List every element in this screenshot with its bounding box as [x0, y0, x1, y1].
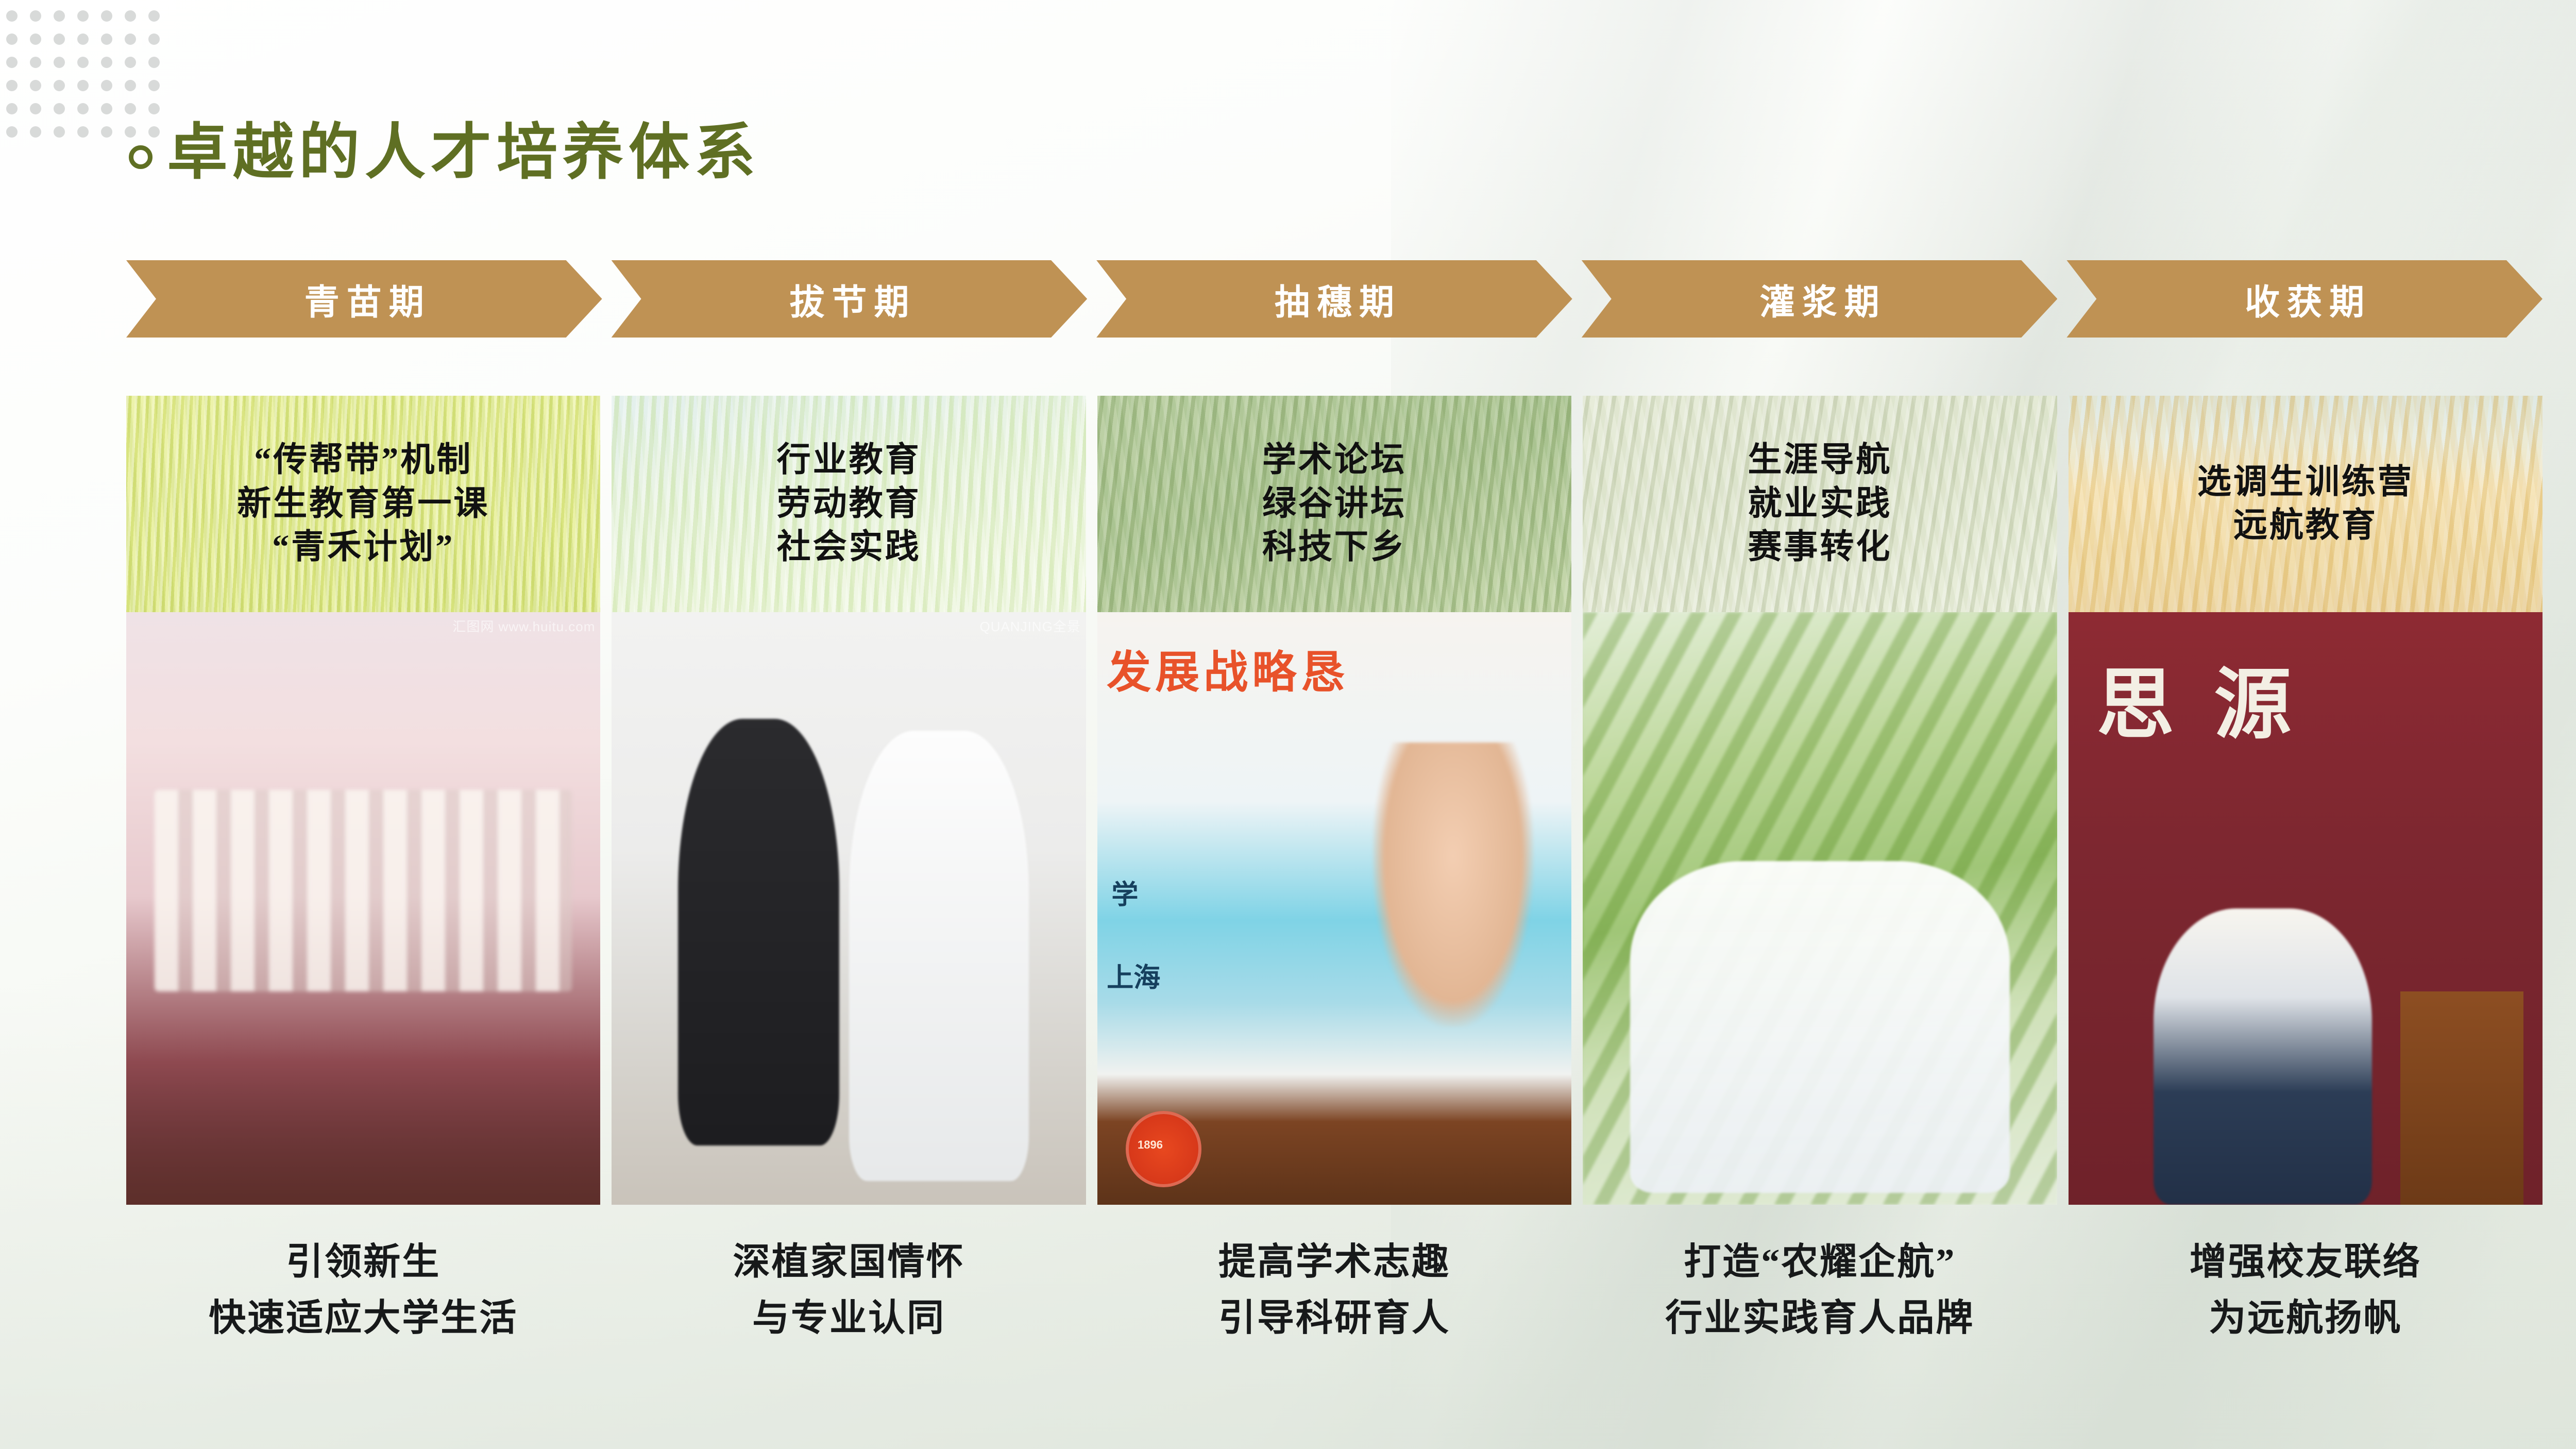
greenhouse-researchers-white-coats-image — [1583, 612, 2057, 1205]
grid-dot — [101, 80, 112, 91]
stage-column-4: 生涯导航就业实践赛事转化 — [1583, 396, 2057, 1205]
card-line: 赛事转化 — [1748, 526, 1892, 569]
card-line: 生涯导航 — [1748, 439, 1892, 482]
grid-dot — [101, 103, 112, 114]
card-line: 劳动教育 — [777, 482, 921, 526]
slide-canvas: 卓越的人才培养体系 青苗期拔节期抽穗期灌浆期收获期 “传帮带”机制新生教育第一课… — [0, 0, 2576, 1449]
stage-chevron-band: 青苗期拔节期抽穗期灌浆期收获期 — [126, 260, 2543, 338]
caption-line: 打造“农耀企航” — [1583, 1234, 2057, 1290]
grid-dot — [101, 126, 112, 138]
grid-dot — [30, 33, 41, 45]
stage-columns: “传帮带”机制新生教育第一课“青禾计划”汇图网 www.huitu.com行业教… — [126, 396, 2543, 1205]
card-line: 社会实践 — [777, 526, 921, 569]
stage-chevron-label: 青苗期 — [297, 274, 431, 325]
students-labor-planting-shovels-image — [612, 612, 1086, 1205]
card-line: 绿谷讲坛 — [1262, 482, 1406, 526]
caption-line: 快速适应大学生活 — [126, 1290, 600, 1346]
card-line: 新生教育第一课 — [237, 482, 489, 526]
caption-line: 增强校友联络 — [2069, 1234, 2543, 1290]
caption-line: 行业实践育人品牌 — [1583, 1290, 2057, 1346]
grid-dot — [30, 10, 41, 22]
grid-dot — [30, 126, 41, 138]
grid-dot — [30, 57, 41, 68]
grid-dot — [77, 103, 89, 114]
stage-chevron-label: 抽穗期 — [1267, 274, 1401, 325]
stage-caption-2: 深植家国情怀与专业认同 — [612, 1234, 1086, 1409]
card-line-group: 生涯导航就业实践赛事转化 — [1748, 439, 1892, 569]
university-seal-year: 1896 — [1138, 1138, 1163, 1152]
grid-dot — [6, 57, 18, 68]
caption-line: 深植家国情怀 — [612, 1234, 1086, 1290]
card-line-group: 行业教育劳动教育社会实践 — [777, 439, 921, 569]
card-line-group: 选调生训练营远航教育 — [2197, 461, 2414, 548]
photo-wall-calligraphy: 思 源 — [2097, 642, 2302, 754]
caption-line: 与专业认同 — [612, 1290, 1086, 1346]
stage-column-3: 学术论坛绿谷讲坛科技下乡发展战略恳学上海1896 — [1097, 396, 1571, 1205]
stage-caption-3: 提高学术志趣引导科研育人 — [1097, 1234, 1571, 1409]
grid-dot — [148, 10, 160, 22]
stage-chevron-3[interactable]: 抽穗期 — [1096, 260, 1572, 338]
grid-dot — [148, 103, 160, 114]
stage-photo-3[interactable]: 发展战略恳学上海1896 — [1097, 612, 1571, 1205]
stage-chevron-label: 灌浆期 — [1753, 274, 1887, 325]
caption-line: 为远航扬帆 — [2069, 1290, 2543, 1346]
stage-chevron-label: 收获期 — [2238, 274, 2371, 325]
caption-line: 提高学术志趣 — [1097, 1234, 1571, 1290]
auditorium-students-standing-image — [126, 612, 600, 1205]
card-line: “青禾计划” — [237, 526, 489, 569]
stage-captions: 引领新生快速适应大学生活深植家国情怀与专业认同提高学术志趣引导科研育人打造“农耀… — [126, 1234, 2543, 1409]
stage-column-5: 选调生训练营远航教育思 源 — [2069, 396, 2543, 1205]
grid-dot — [54, 80, 65, 91]
grid-dot — [148, 57, 160, 68]
stage-photo-5[interactable]: 思 源 — [2069, 612, 2543, 1205]
grid-dot — [6, 80, 18, 91]
stage-card-2[interactable]: 行业教育劳动教育社会实践 — [612, 396, 1086, 612]
stage-caption-5: 增强校友联络为远航扬帆 — [2069, 1234, 2543, 1409]
photo-side-text-lower: 上海 — [1107, 956, 1160, 995]
stage-card-4[interactable]: 生涯导航就业实践赛事转化 — [1583, 396, 2057, 612]
stage-card-3[interactable]: 学术论坛绿谷讲坛科技下乡 — [1097, 396, 1571, 612]
grid-dot — [54, 103, 65, 114]
stage-chevron-label: 拔节期 — [782, 274, 916, 325]
caption-line: 引领新生 — [126, 1234, 600, 1290]
grid-dot — [125, 103, 136, 114]
grid-dot — [101, 33, 112, 45]
grid-dot — [77, 10, 89, 22]
card-line: 远航教育 — [2197, 504, 2414, 547]
grid-dot — [54, 57, 65, 68]
card-line: “传帮带”机制 — [237, 439, 489, 482]
card-line: 学术论坛 — [1262, 439, 1406, 482]
grid-dot — [54, 126, 65, 138]
stage-chevron-1[interactable]: 青苗期 — [126, 260, 602, 338]
grid-dot — [54, 10, 65, 22]
grid-dot — [148, 80, 160, 91]
stage-chevron-4[interactable]: 灌浆期 — [1582, 260, 2058, 338]
photo-side-text-upper: 学 — [1111, 873, 1138, 912]
card-line-group: 学术论坛绿谷讲坛科技下乡 — [1262, 439, 1406, 569]
stage-chevron-2[interactable]: 拔节期 — [612, 260, 1088, 338]
stage-photo-4[interactable] — [1583, 612, 2057, 1205]
photo-watermark: 汇图网 www.huitu.com — [452, 616, 595, 635]
grid-dot — [77, 33, 89, 45]
grid-dot — [77, 80, 89, 91]
stage-column-2: 行业教育劳动教育社会实践QUANJING全景 — [612, 396, 1086, 1205]
grid-dot — [125, 33, 136, 45]
stage-card-1[interactable]: “传帮带”机制新生教育第一课“青禾计划” — [126, 396, 600, 612]
stage-photo-2[interactable]: QUANJING全景 — [612, 612, 1086, 1205]
ring-bullet-icon — [129, 145, 152, 169]
grid-dot — [30, 103, 41, 114]
stage-chevron-5[interactable]: 收获期 — [2066, 260, 2543, 338]
grid-dot — [6, 10, 18, 22]
page-title: 卓越的人才培养体系 — [167, 123, 760, 183]
caption-line: 引导科研育人 — [1097, 1290, 1571, 1346]
grid-dot — [125, 10, 136, 22]
stage-card-5[interactable]: 选调生训练营远航教育 — [2069, 396, 2543, 612]
grid-dot — [101, 10, 112, 22]
stage-column-1: “传帮带”机制新生教育第一课“青禾计划”汇图网 www.huitu.com — [126, 396, 600, 1205]
card-line-group: “传帮带”机制新生教育第一课“青禾计划” — [237, 439, 489, 569]
photo-watermark: QUANJING全景 — [979, 616, 1080, 635]
forum-speaker-at-podium-image — [1097, 612, 1571, 1205]
grid-dot — [6, 33, 18, 45]
stage-photo-1[interactable]: 汇图网 www.huitu.com — [126, 612, 600, 1205]
page-title-row: 卓越的人才培养体系 — [129, 123, 760, 183]
card-line: 选调生训练营 — [2197, 461, 2414, 504]
grid-dot — [6, 126, 18, 138]
grid-dot — [30, 80, 41, 91]
grid-dot — [54, 33, 65, 45]
card-line: 科技下乡 — [1262, 526, 1406, 569]
card-line: 就业实践 — [1748, 482, 1892, 526]
photo-banner-text: 发展战略恳 — [1107, 636, 1349, 700]
grid-dot — [125, 80, 136, 91]
card-line: 行业教育 — [777, 439, 921, 482]
grid-dot — [101, 57, 112, 68]
grid-dot — [77, 57, 89, 68]
grid-dot — [148, 33, 160, 45]
stage-caption-4: 打造“农耀企航”行业实践育人品牌 — [1583, 1234, 2057, 1409]
grid-dot — [6, 103, 18, 114]
grid-dot — [125, 57, 136, 68]
grid-dot — [77, 126, 89, 138]
stage-caption-1: 引领新生快速适应大学生活 — [126, 1234, 600, 1409]
